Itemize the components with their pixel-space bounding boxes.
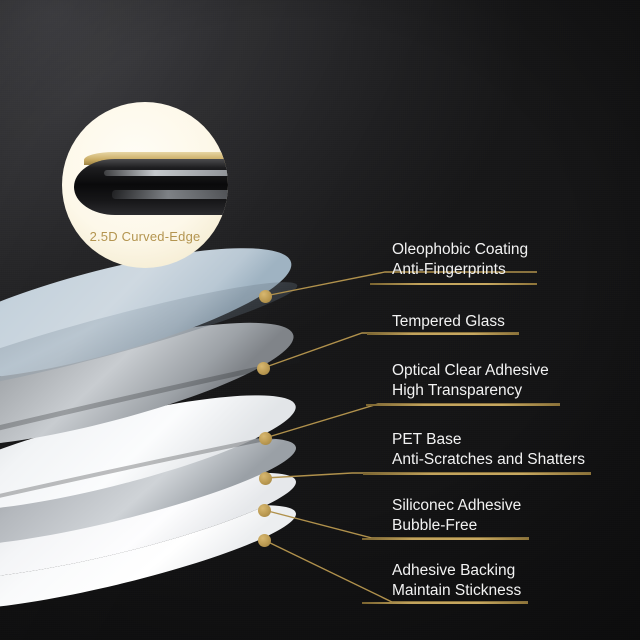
- label-pet-base: PET Base Anti-Scratches and Shatters: [392, 430, 585, 470]
- label-title-siliconec-adhesive: Siliconec Adhesive: [392, 497, 521, 514]
- underline-siliconec-adhesive: [362, 538, 529, 540]
- dot-pet-base[interactable]: [259, 472, 272, 485]
- label-optical-clear-adhesive: Optical Clear Adhesive High Transparency: [392, 361, 549, 401]
- label-subtitle-optical-clear-adhesive: High Transparency: [392, 381, 549, 401]
- label-tempered-glass: Tempered Glass: [392, 312, 505, 332]
- label-siliconec-adhesive: Siliconec Adhesive Bubble-Free: [392, 496, 521, 536]
- underline-pet-base: [363, 473, 591, 475]
- label-subtitle-oleophobic: Anti-Fingerprints: [392, 260, 528, 280]
- underline-tempered-glass: [367, 333, 519, 335]
- dot-tempered-glass[interactable]: [257, 362, 270, 375]
- label-subtitle-siliconec-adhesive: Bubble-Free: [392, 516, 521, 536]
- label-subtitle-adhesive-backing: Maintain Stickness: [392, 581, 521, 601]
- underline-adhesive-backing: [362, 602, 528, 604]
- label-oleophobic: Oleophobic Coating Anti-Fingerprints: [392, 240, 528, 280]
- underline-optical-clear-adhesive: [366, 404, 560, 406]
- dot-oleophobic[interactable]: [259, 290, 272, 303]
- phone-edge-highlight-bottom: [112, 190, 228, 199]
- label-subtitle-pet-base: Anti-Scratches and Shatters: [392, 450, 585, 470]
- phone-edge-body: [74, 159, 228, 215]
- product-infographic: Overall Protection: [0, 0, 640, 640]
- label-title-tempered-glass: Tempered Glass: [392, 313, 505, 330]
- dot-adhesive-backing[interactable]: [258, 534, 271, 547]
- curved-edge-zoom-inset: 2.5D Curved-Edge: [62, 102, 228, 268]
- label-title-pet-base: PET Base: [392, 431, 462, 448]
- curved-edge-phone-icon: [62, 152, 228, 226]
- label-adhesive-backing: Adhesive Backing Maintain Stickness: [392, 561, 521, 601]
- dot-siliconec-adhesive[interactable]: [258, 504, 271, 517]
- label-title-oleophobic: Oleophobic Coating: [392, 241, 528, 258]
- phone-edge-highlight-top: [104, 170, 228, 176]
- dot-optical-clear-adhesive[interactable]: [259, 432, 272, 445]
- label-title-optical-clear-adhesive: Optical Clear Adhesive: [392, 362, 549, 379]
- zoom-inset-caption: 2.5D Curved-Edge: [62, 229, 228, 244]
- layer-stack-illustration: [0, 0, 640, 640]
- label-title-adhesive-backing: Adhesive Backing: [392, 562, 515, 579]
- underline-oleophobic: [370, 283, 537, 285]
